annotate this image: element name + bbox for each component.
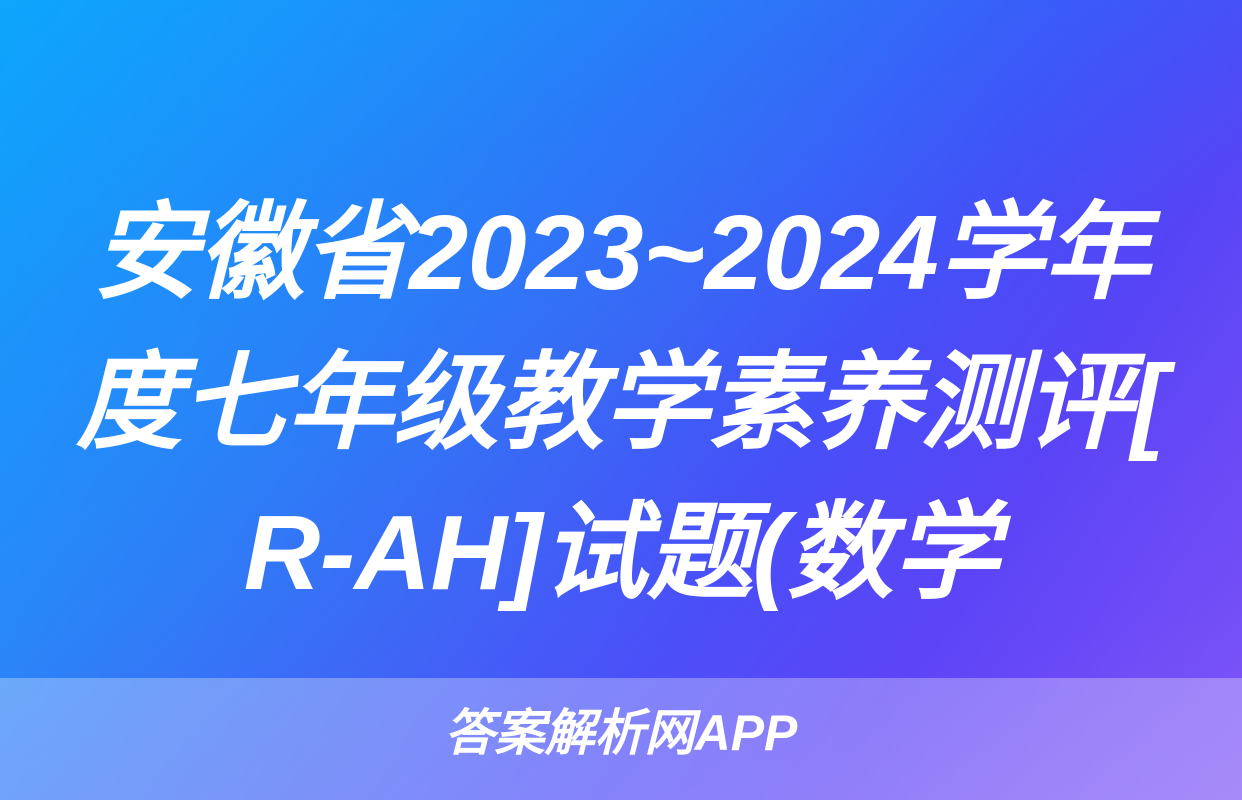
watermark-brand-label: 答案解析网APP	[0, 704, 1242, 762]
title-line-2: 度七年级教学素养测评[	[12, 328, 1230, 478]
title-line-3: R-AH]试题(数学	[12, 478, 1230, 628]
exam-cover-card: 安徽省2023~2024学年 度七年级教学素养测评[ R-AH]试题(数学 答案…	[0, 0, 1242, 800]
title-line-1: 安徽省2023~2024学年	[12, 178, 1230, 328]
page-title: 安徽省2023~2024学年 度七年级教学素养测评[ R-AH]试题(数学	[0, 178, 1242, 628]
